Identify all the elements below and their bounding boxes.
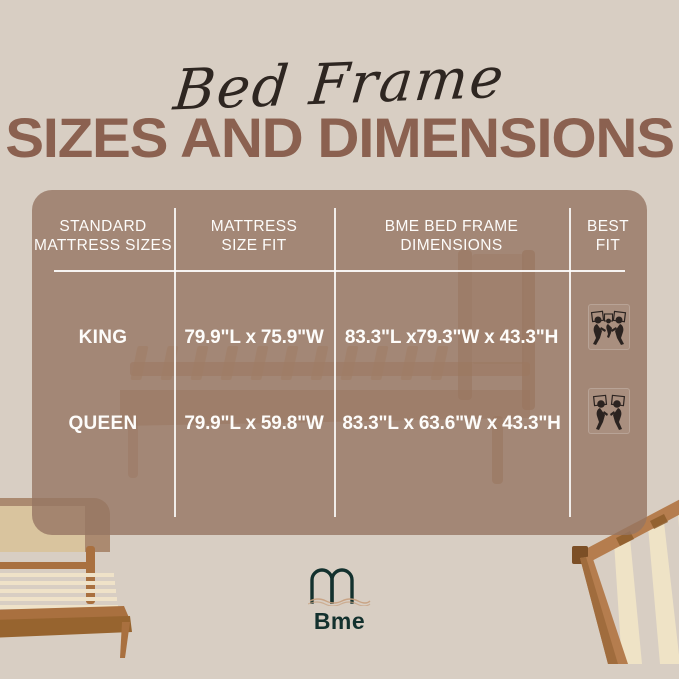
king-frame-dimensions: 83.3"L x79.3"W x 43.3"H — [334, 326, 569, 349]
column-header-standard-mattress-sizes: STANDARD MATTRESS SIZES — [32, 218, 174, 256]
best-fit-icon-queen — [588, 388, 630, 434]
king-mattress-fit: 79.9"L x 75.9"W — [174, 326, 334, 349]
two-adults-sleeping-icon — [589, 389, 629, 433]
queen-frame-dimensions: 83.3"L x 63.6"W x 43.3"H — [334, 412, 569, 435]
row-label-queen: QUEEN — [32, 412, 174, 435]
arch-m-logo-icon — [308, 566, 372, 606]
column-header-line2: SIZE FIT — [174, 237, 334, 256]
brand-name: Bme — [0, 608, 679, 635]
column-header-best-fit: BEST FIT — [569, 218, 647, 256]
best-fit-icon-king — [588, 304, 630, 350]
comparison-table-panel: STANDARD MATTRESS SIZES MATTRESS SIZE FI… — [32, 190, 647, 535]
queen-mattress-fit: 79.9"L x 59.8"W — [174, 412, 334, 435]
column-header-line2: DIMENSIONS — [334, 237, 569, 256]
column-header-line1: STANDARD — [32, 218, 174, 237]
two-adults-and-child-sleeping-icon — [589, 305, 629, 349]
brand-logo: Bme — [0, 566, 679, 635]
row-label-king: KING — [32, 326, 174, 349]
column-header-line1: BME BED FRAME — [334, 218, 569, 237]
column-header-line1: MATTRESS — [174, 218, 334, 237]
infographic-canvas: Bed Frame SIZES AND DIMENSIONS — [0, 0, 679, 679]
header-rule — [54, 270, 625, 272]
column-header-line1: BEST — [569, 218, 647, 237]
column-header-mattress-size-fit: MATTRESS SIZE FIT — [174, 218, 334, 256]
column-header-line2: MATTRESS SIZES — [32, 237, 174, 256]
column-header-bme-bed-frame-dimensions: BME BED FRAME DIMENSIONS — [334, 218, 569, 256]
column-header-line2: FIT — [569, 237, 647, 256]
